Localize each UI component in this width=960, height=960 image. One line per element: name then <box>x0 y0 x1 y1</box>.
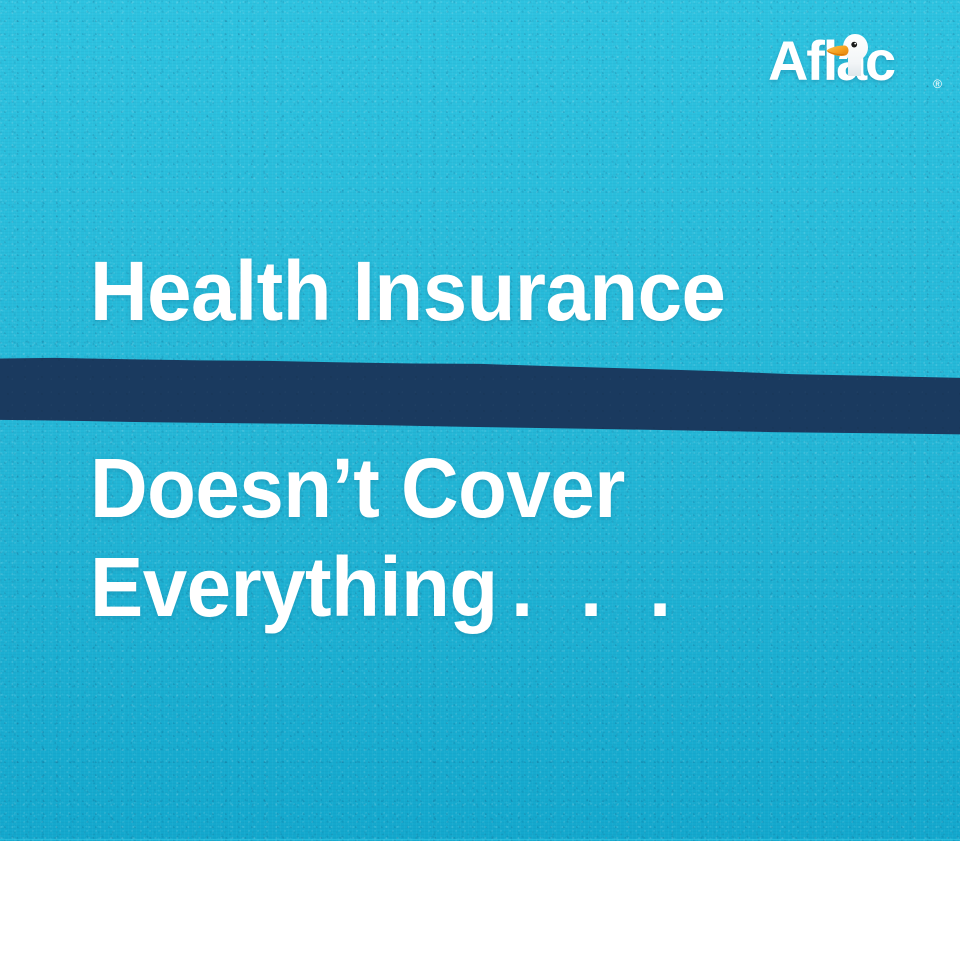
registered-trademark-mark: ® <box>933 78 942 90</box>
headline-line-1: Health Insurance <box>90 249 725 333</box>
aflac-logo[interactable]: Aflac ® <box>768 28 938 94</box>
headline-ellipsis: . . . <box>498 540 684 634</box>
headline-line-3-text: Everything <box>90 540 498 634</box>
aflac-duck-icon <box>824 30 872 76</box>
panel-bottom-edge <box>0 839 960 841</box>
headline-line-2: Doesn’t Cover <box>90 446 625 530</box>
ad-canvas: Health Insurance Doesn’t Cover Everythin… <box>0 0 960 960</box>
headline-line-3: Everything. . . <box>90 545 684 629</box>
